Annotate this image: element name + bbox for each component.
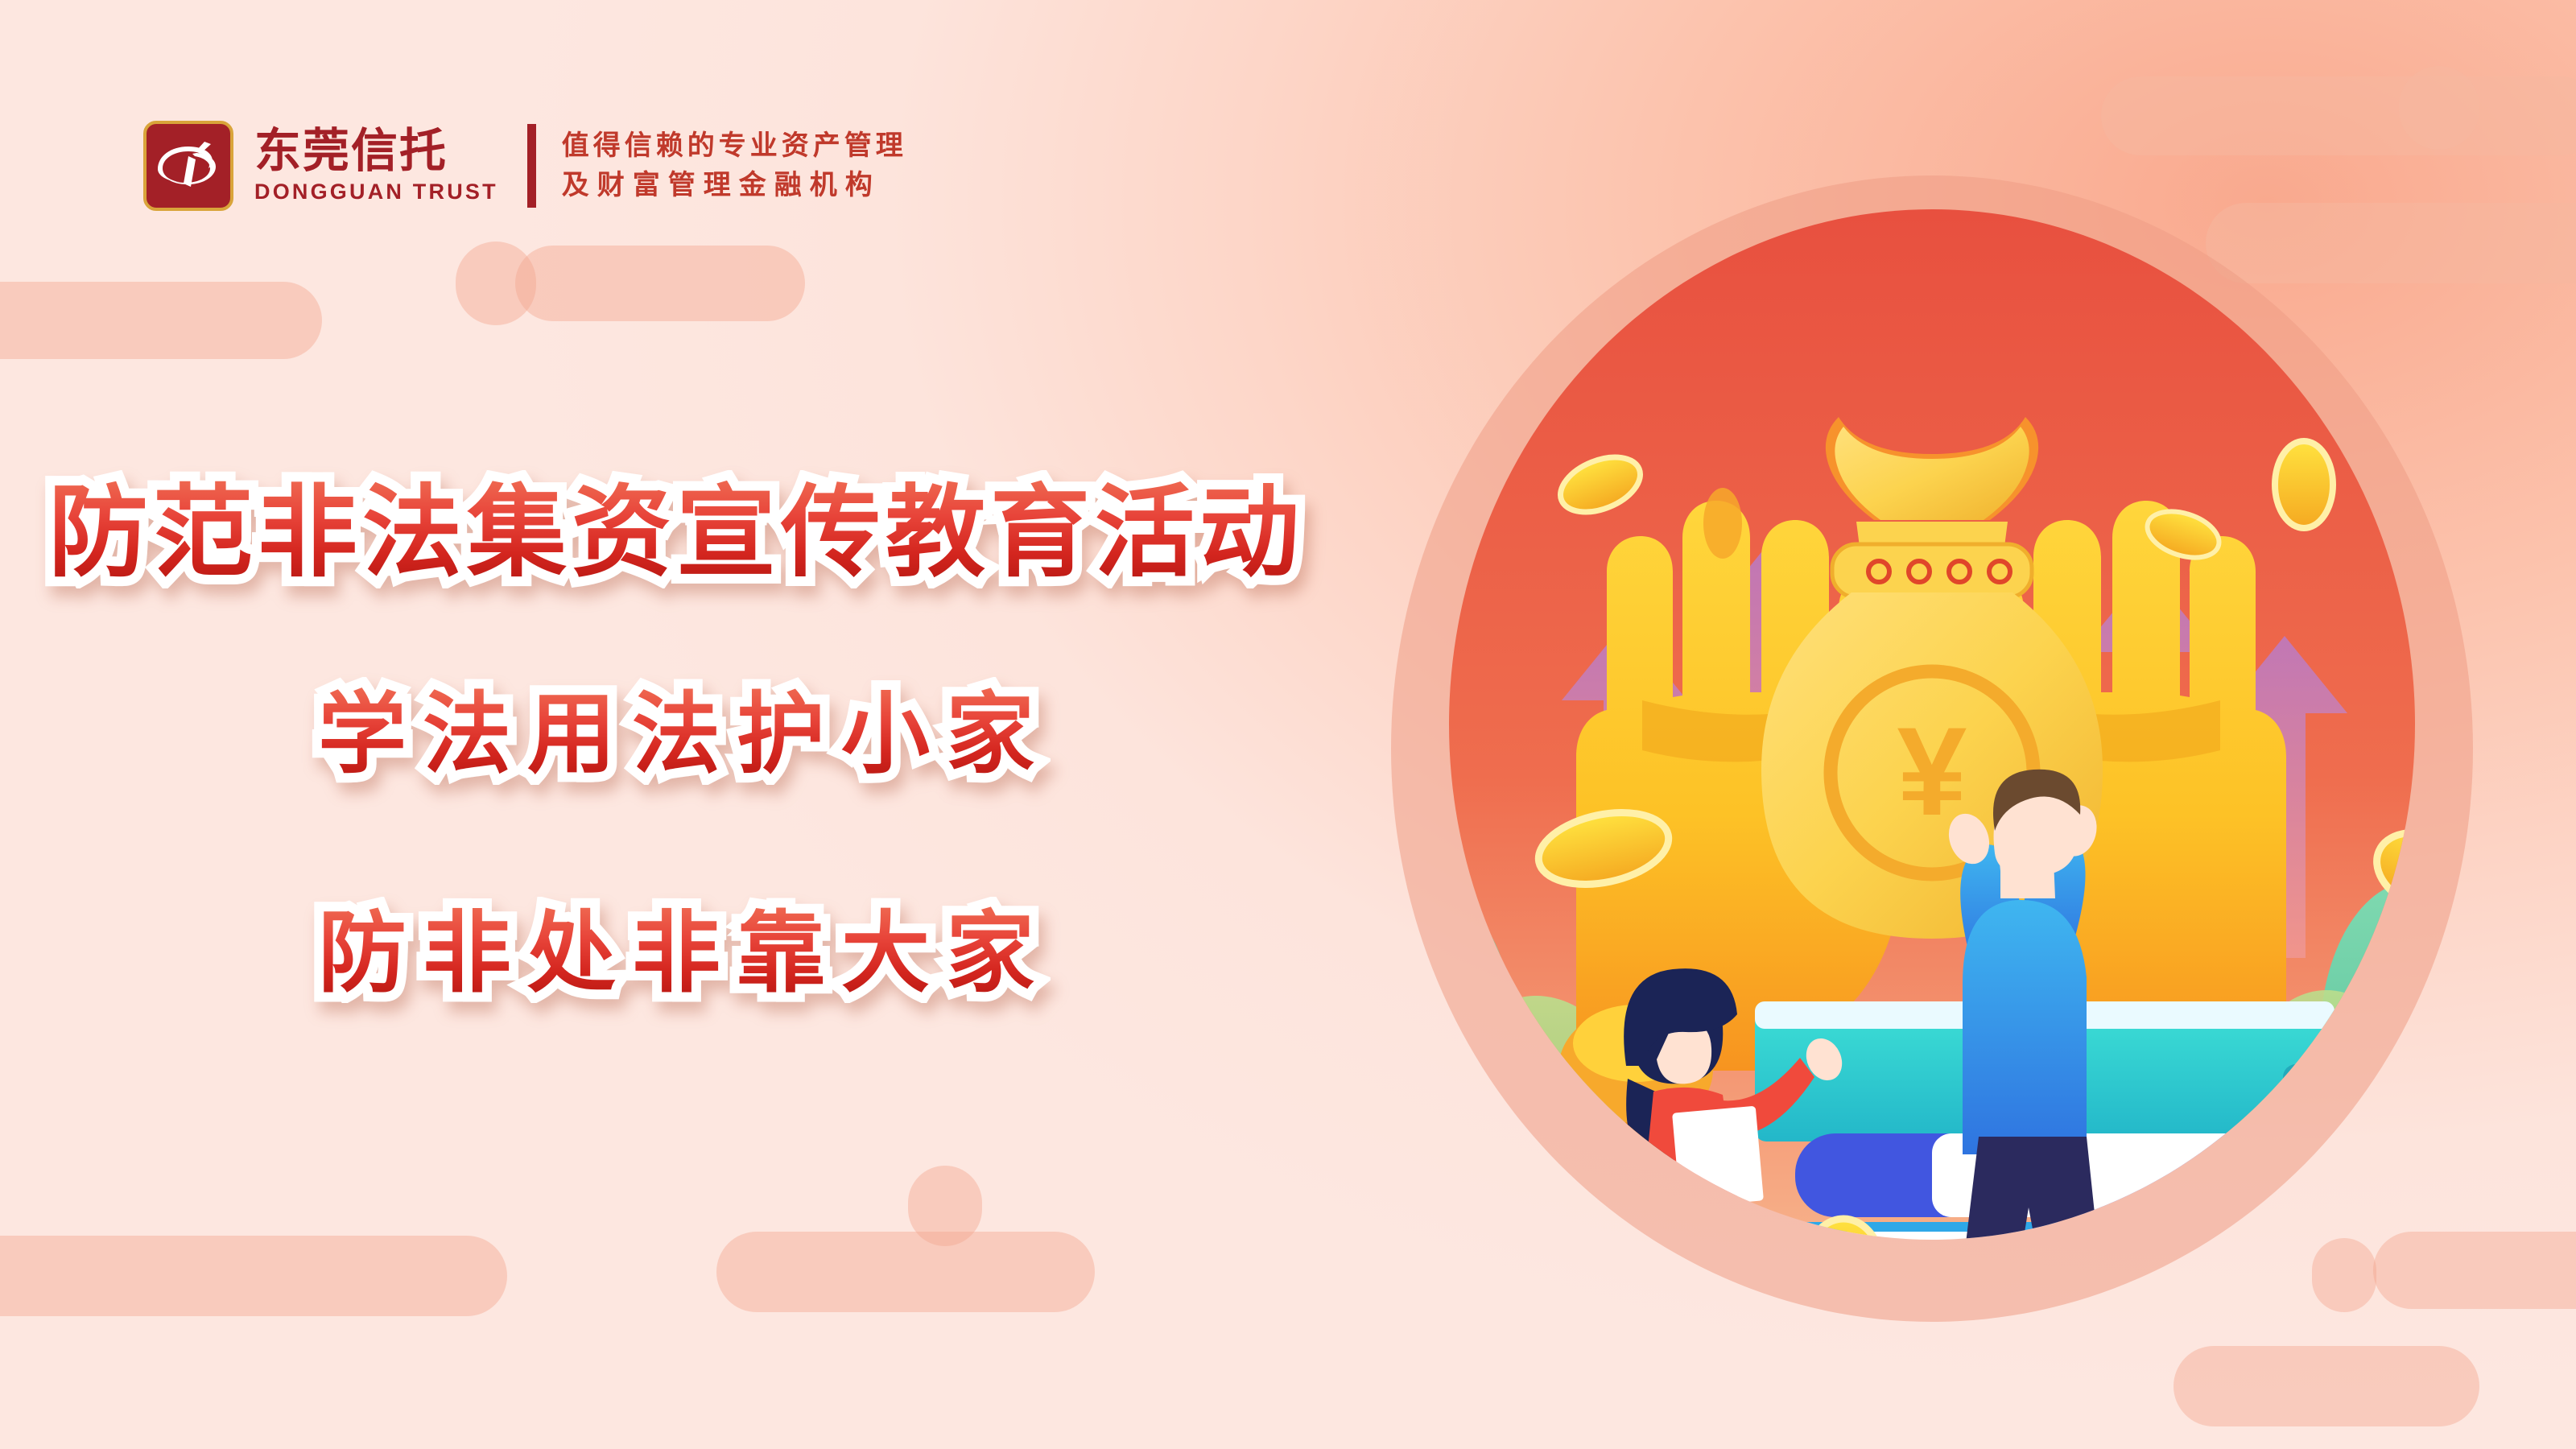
headline-block: 防范非法集资宣传教育活动 防范非法集资宣传教育活动 学法用法护小家 学法用法护小… [0, 483, 1352, 1009]
bg-pill-decoration [716, 1232, 1095, 1312]
brand-wordmark: 东莞信托 DONGGUAN TRUST [254, 127, 498, 204]
headline-line-1-fill: 防范非法集资宣传教育活动 [48, 477, 1304, 588]
brand-name-en: DONGGUAN TRUST [254, 180, 498, 204]
slogan-line-2: 及财富管理金融机构 [562, 171, 907, 200]
dongguan-trust-swoosh-logo-icon [143, 121, 233, 211]
finance-illustration: ¥ [1320, 137, 2544, 1368]
money-bag-collar [1832, 544, 2032, 597]
promo-banner: 东莞信托 DONGGUAN TRUST 值得信赖的专业资产管理 及财富管理金融机… [0, 0, 2576, 1449]
bg-dot-decoration [456, 242, 536, 325]
slogan-line-1: 值得信赖的专业资产管理 [562, 132, 907, 160]
bg-dot-decoration [908, 1166, 982, 1246]
bg-pill-decoration [515, 246, 805, 321]
headline-line-2: 学法用法护小家 学法用法护小家 [0, 691, 1352, 791]
headline-line-1: 防范非法集资宣传教育活动 防范非法集资宣传教育活动 [0, 483, 1352, 592]
brand-slogan: 值得信赖的专业资产管理 及财富管理金融机构 [562, 132, 907, 200]
brand-divider [527, 124, 536, 208]
headline-line-3-fill: 防非处非靠大家 [302, 904, 1051, 1003]
bg-pill-decoration [0, 1236, 507, 1316]
brand-name-cn: 东莞信托 [254, 127, 498, 175]
headline-line-3: 防非处非靠大家 防非处非靠大家 [0, 910, 1352, 1009]
brand-header: 东莞信托 DONGGUAN TRUST 值得信赖的专业资产管理 及财富管理金融机… [143, 121, 907, 211]
headline-line-2-fill: 学法用法护小家 [302, 685, 1051, 784]
bg-pill-decoration [0, 282, 322, 359]
